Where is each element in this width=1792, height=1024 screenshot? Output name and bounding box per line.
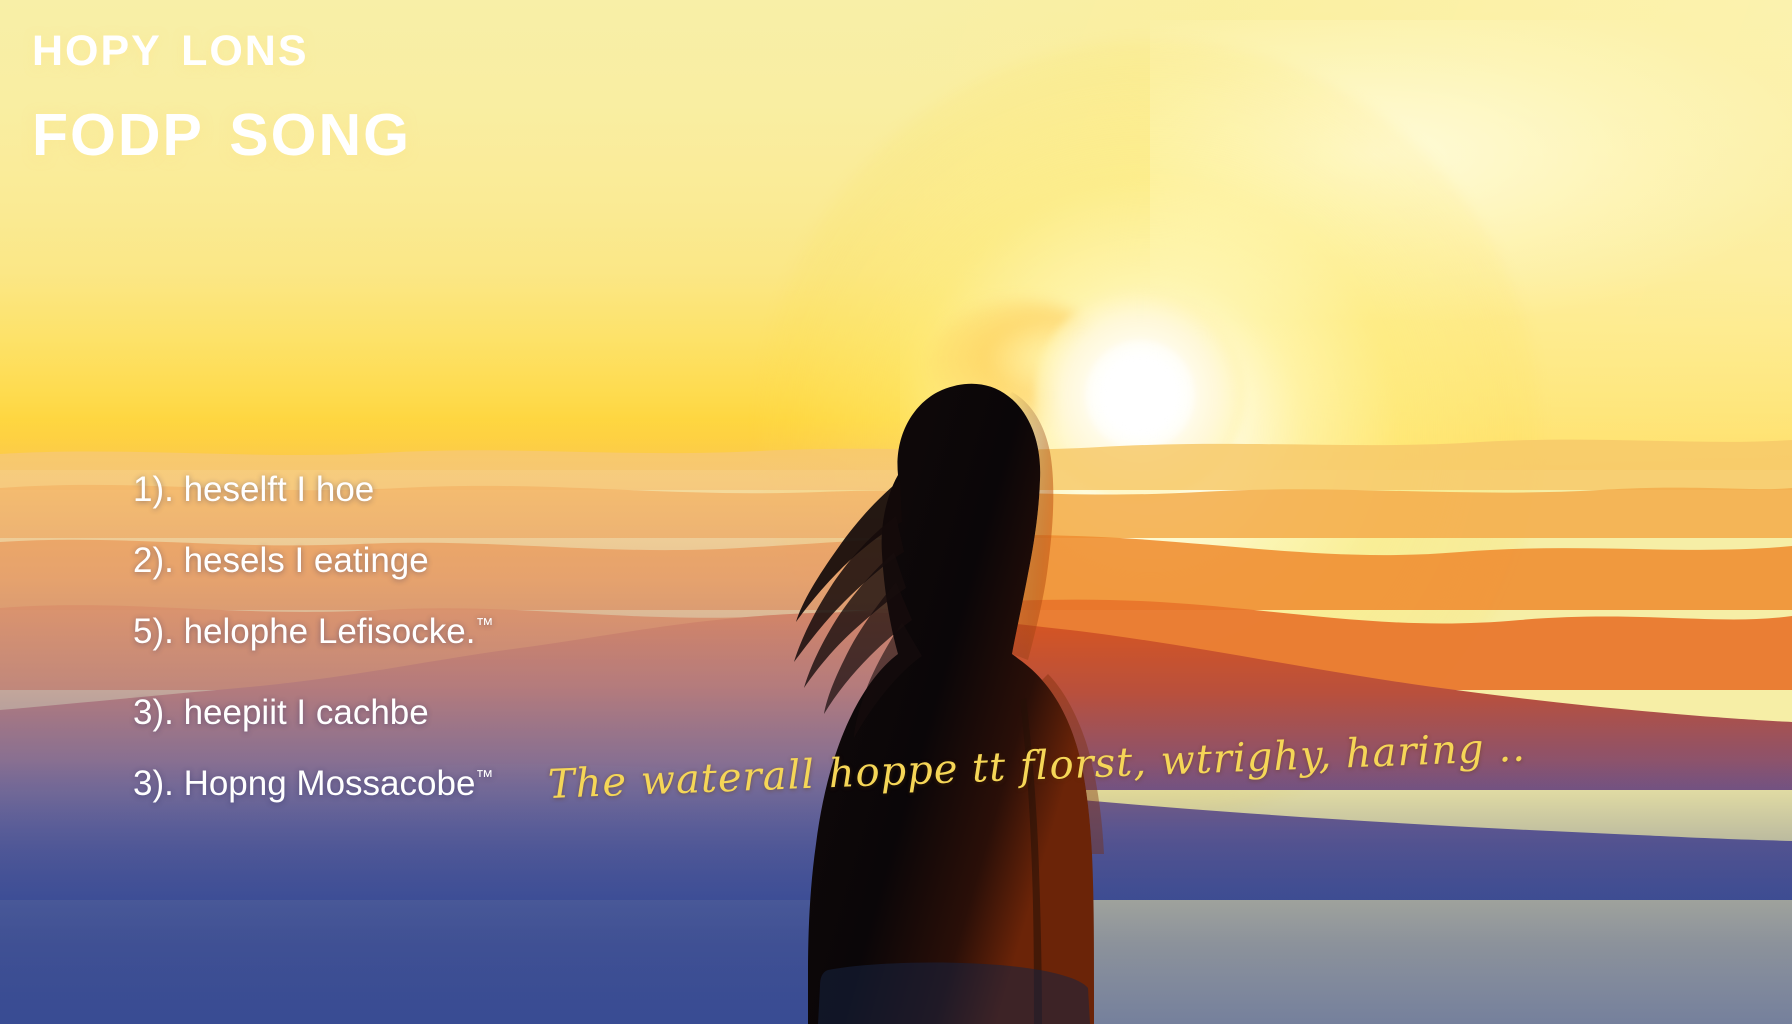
script-caption-block: The waterall hoppe tt florst, wtrighy, h… [548,762,1408,808]
title-line-2: Fodp Song [32,84,411,168]
list-item-text: 5). helophe Lefisocke. [133,612,475,651]
poster-title-block: Hopy Lons Fodp Song [32,14,411,168]
trademark-symbol: ™ [475,766,494,786]
list-item: 2). hesels I eatinge [133,543,753,578]
list-item-text: 1). heselft I hoe [133,470,374,509]
list-item-text: 2). hesels I eatinge [133,541,429,580]
trademark-symbol: ™ [475,614,494,634]
title-line-1: Hopy Lons [32,14,411,76]
poster-canvas: Hopy Lons Fodp Song 1). heselft I hoe 2)… [0,0,1792,1024]
list-item-text: 3). Hopng Mossacobe [133,764,475,803]
list-item: 5). helophe Lefisocke.™ [133,614,753,649]
list-item: 3). heepiit I cachbe [133,695,753,730]
woman-silhouette [690,230,1210,1024]
list-item-text: 3). heepiit I cachbe [133,693,429,732]
list-item: 1). heselft I hoe [133,472,753,507]
